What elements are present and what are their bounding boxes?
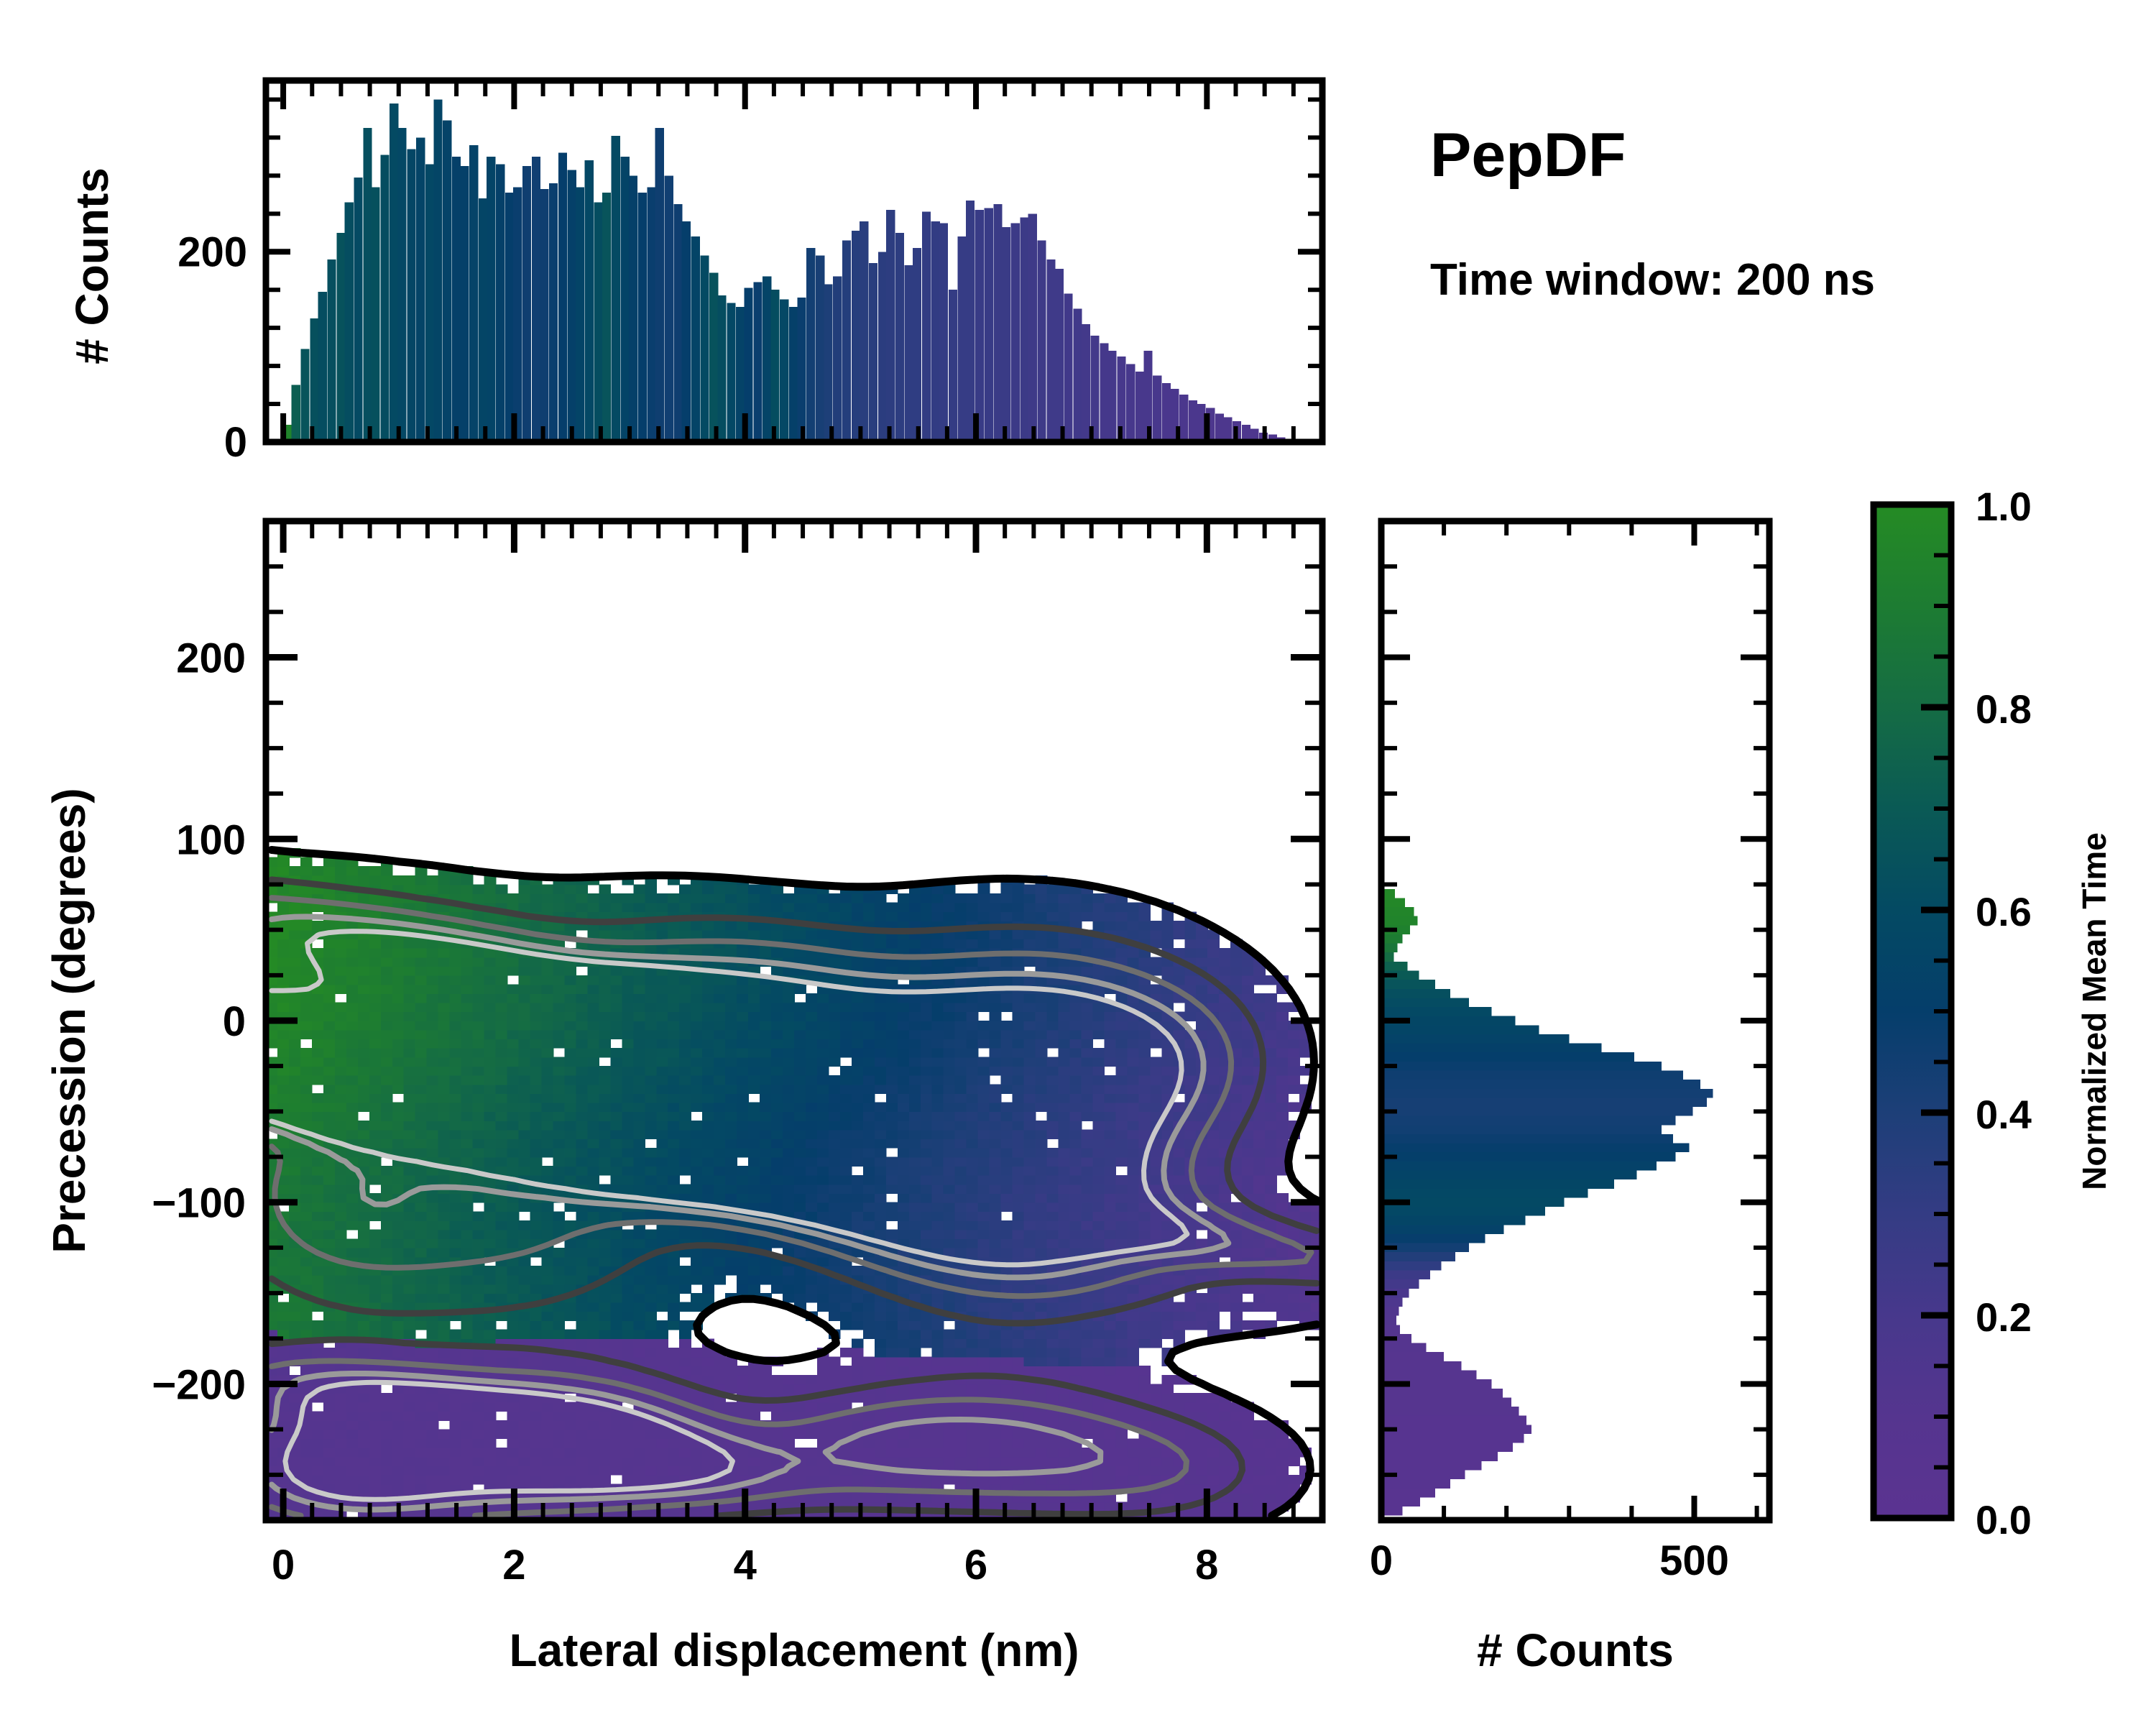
heatmap-cell xyxy=(748,1175,760,1184)
heatmap-cell xyxy=(829,1175,841,1184)
heatmap-cell xyxy=(691,1166,703,1175)
heatmap-cell xyxy=(921,1157,933,1167)
heatmap-cell xyxy=(944,1402,956,1412)
heatmap-cell xyxy=(461,1266,474,1275)
heatmap-cell xyxy=(392,1430,405,1439)
heatmap-cell xyxy=(461,1330,474,1339)
heatmap-cell xyxy=(633,1311,645,1320)
heatmap-cell xyxy=(484,1066,497,1075)
heatmap-cell xyxy=(1127,1030,1139,1039)
heatmap-cell xyxy=(553,1093,565,1103)
heatmap-cell xyxy=(863,1211,875,1220)
heatmap-cell xyxy=(806,1066,818,1075)
top-histogram-bar xyxy=(1055,269,1064,442)
heatmap-cell xyxy=(450,1284,462,1293)
heatmap-cell xyxy=(1276,1093,1289,1103)
heatmap-cell xyxy=(415,1230,428,1239)
heatmap-cell xyxy=(576,1138,588,1148)
heatmap-cell xyxy=(335,1030,347,1039)
heatmap-cell xyxy=(358,1103,370,1112)
heatmap-cell xyxy=(990,1302,1002,1312)
heatmap-cell xyxy=(622,1130,634,1139)
heatmap-cell xyxy=(1184,1238,1197,1248)
heatmap-cell xyxy=(622,1293,634,1302)
heatmap-cell xyxy=(507,1238,520,1248)
heatmap-cell xyxy=(668,1438,680,1448)
heatmap-cell xyxy=(599,1030,611,1039)
heatmap-cell xyxy=(461,1438,474,1448)
heatmap-cell xyxy=(1242,1284,1254,1293)
heatmap-cell xyxy=(541,1111,553,1121)
heatmap-cell xyxy=(1081,1030,1093,1039)
heatmap-cell xyxy=(978,1430,990,1439)
heatmap-cell xyxy=(817,1030,829,1039)
heatmap-cell xyxy=(817,1275,829,1284)
heatmap-cell xyxy=(932,1220,944,1230)
heatmap-cell xyxy=(898,1166,910,1175)
heatmap-cell xyxy=(633,1084,645,1093)
heatmap-cell xyxy=(530,1011,543,1021)
heatmap-cell xyxy=(335,1021,347,1030)
heatmap-cell xyxy=(898,1193,910,1202)
heatmap-cell xyxy=(1265,1075,1277,1085)
heatmap-cell xyxy=(438,1457,451,1466)
heatmap-cell xyxy=(760,1048,772,1057)
heatmap-cell xyxy=(1127,1338,1139,1348)
heatmap-cell xyxy=(806,1193,818,1202)
heatmap-cell xyxy=(541,1103,553,1112)
heatmap-cell xyxy=(369,1138,382,1148)
heatmap-cell xyxy=(1059,1084,1071,1093)
heatmap-cell xyxy=(702,1175,714,1184)
heatmap-cell xyxy=(656,1357,668,1366)
heatmap-cell xyxy=(323,1448,336,1457)
heatmap-cell xyxy=(990,1148,1002,1157)
heatmap-cell xyxy=(1230,1411,1243,1420)
heatmap-cell xyxy=(1242,1030,1254,1039)
heatmap-cell xyxy=(289,1211,301,1220)
heatmap-cell xyxy=(978,1338,990,1348)
heatmap-cell xyxy=(875,1157,887,1167)
heatmap-cell xyxy=(622,1438,634,1448)
heatmap-cell xyxy=(725,1048,737,1057)
heatmap-cell xyxy=(289,1103,301,1112)
heatmap-cell xyxy=(817,1011,829,1021)
heatmap-cell xyxy=(1219,1011,1231,1021)
heatmap-cell xyxy=(461,1075,474,1085)
heatmap-cell xyxy=(1069,1103,1082,1112)
heatmap-cell xyxy=(955,1430,967,1439)
heatmap-cell xyxy=(863,1193,875,1202)
heatmap-cell xyxy=(794,1375,806,1384)
heatmap-cell xyxy=(1047,1148,1059,1157)
heatmap-cell xyxy=(967,1193,979,1202)
heatmap-cell xyxy=(541,1075,553,1085)
heatmap-cell xyxy=(748,1021,760,1030)
heatmap-cell xyxy=(714,1103,726,1112)
heatmap-cell xyxy=(1104,1121,1116,1130)
heatmap-cell xyxy=(1184,1075,1197,1085)
heatmap-cell xyxy=(645,1338,657,1348)
heatmap-cell xyxy=(932,1093,944,1103)
heatmap-cell xyxy=(714,1157,726,1167)
heatmap-cell xyxy=(817,1148,829,1157)
heatmap-cell xyxy=(507,1420,520,1430)
heatmap-cell xyxy=(404,1220,416,1230)
heatmap-cell xyxy=(622,1111,634,1121)
heatmap-cell xyxy=(760,1121,772,1130)
heatmap-cell xyxy=(358,1121,370,1130)
heatmap-cell xyxy=(323,1438,336,1448)
heatmap-cell xyxy=(829,1257,841,1266)
heatmap-cell xyxy=(335,1175,347,1184)
heatmap-cell xyxy=(392,1330,405,1339)
heatmap-cell xyxy=(1150,1320,1162,1330)
heatmap-cell xyxy=(335,1220,347,1230)
heatmap-cell xyxy=(622,1093,634,1103)
heatmap-cell xyxy=(863,1448,875,1457)
heatmap-cell xyxy=(461,1402,474,1412)
heatmap-cell xyxy=(1230,1111,1243,1121)
heatmap-cell xyxy=(909,1266,921,1275)
heatmap-cell xyxy=(1150,1211,1162,1220)
heatmap-cell xyxy=(944,1457,956,1466)
heatmap-cell xyxy=(461,1275,474,1284)
heatmap-cell xyxy=(622,1121,634,1130)
heatmap-cell xyxy=(358,1057,370,1067)
heatmap-cell xyxy=(323,1238,336,1248)
heatmap-cell xyxy=(473,1475,485,1484)
heatmap-cell xyxy=(691,1366,703,1375)
heatmap-cell xyxy=(955,1193,967,1202)
heatmap-cell xyxy=(668,1457,680,1466)
heatmap-cell xyxy=(484,1048,497,1057)
heatmap-cell xyxy=(955,1157,967,1167)
heatmap-cell xyxy=(312,1320,324,1330)
heatmap-cell xyxy=(541,1220,553,1230)
heatmap-cell xyxy=(875,1193,887,1202)
heatmap-cell xyxy=(1253,1320,1266,1330)
heatmap-cell xyxy=(1047,1248,1059,1257)
heatmap-cell xyxy=(427,1238,439,1248)
heatmap-cell xyxy=(1138,1284,1151,1293)
heatmap-cell xyxy=(1184,1320,1197,1330)
heatmap-cell xyxy=(277,1311,290,1320)
heatmap-cell xyxy=(840,1166,852,1175)
heatmap-cell xyxy=(415,1030,428,1039)
heatmap-cell xyxy=(1276,1138,1289,1148)
heatmap-cell xyxy=(875,1330,887,1339)
heatmap-cell xyxy=(1115,1466,1128,1475)
heatmap-cell xyxy=(1196,1175,1208,1184)
heatmap-cell xyxy=(794,1048,806,1057)
heatmap-cell xyxy=(1276,1121,1289,1130)
heatmap-cell xyxy=(1081,1220,1093,1230)
heatmap-cell xyxy=(783,1138,795,1148)
top-histogram-bar xyxy=(318,292,327,442)
heatmap-cell xyxy=(875,1411,887,1420)
heatmap-cell xyxy=(886,1175,898,1184)
heatmap-cell xyxy=(496,1330,508,1339)
heatmap-cell xyxy=(1069,1075,1082,1085)
heatmap-cell xyxy=(806,1448,818,1457)
heatmap-cell xyxy=(541,1011,553,1021)
heatmap-cell xyxy=(461,1293,474,1302)
heatmap-cell xyxy=(484,1357,497,1366)
top-histogram-bar xyxy=(895,233,904,442)
heatmap-cell xyxy=(898,1320,910,1330)
heatmap-cell xyxy=(392,1066,405,1075)
heatmap-cell xyxy=(886,1357,898,1366)
heatmap-cell xyxy=(932,1148,944,1157)
heatmap-cell xyxy=(1036,1502,1048,1512)
heatmap-cell xyxy=(450,1393,462,1402)
heatmap-cell xyxy=(450,1148,462,1157)
heatmap-cell xyxy=(369,1420,382,1430)
heatmap-cell xyxy=(829,1311,841,1320)
heatmap-cell xyxy=(1047,1302,1059,1312)
heatmap-cell xyxy=(702,1184,714,1193)
heatmap-cell xyxy=(1104,1466,1116,1475)
heatmap-cell xyxy=(737,1184,749,1193)
heatmap-cell xyxy=(496,1011,508,1021)
heatmap-cell xyxy=(817,1057,829,1067)
heatmap-cell xyxy=(771,1084,783,1093)
heatmap-cell xyxy=(1047,1166,1059,1175)
heatmap-cell xyxy=(840,1375,852,1384)
heatmap-cell xyxy=(610,1130,622,1139)
heatmap-cell xyxy=(1024,1284,1036,1293)
heatmap-cell xyxy=(679,1448,691,1457)
top-histogram-bar xyxy=(327,259,336,442)
heatmap-cell xyxy=(817,1184,829,1193)
heatmap-cell xyxy=(335,1284,347,1293)
heatmap-cell xyxy=(381,1466,393,1475)
heatmap-cell xyxy=(381,1411,393,1420)
heatmap-cell xyxy=(840,1293,852,1302)
heatmap-cell xyxy=(714,1457,726,1466)
heatmap-cell xyxy=(633,1302,645,1312)
heatmap-cell xyxy=(1104,1021,1116,1030)
heatmap-cell xyxy=(748,1066,760,1075)
top-histogram-bar xyxy=(673,204,682,442)
heatmap-cell xyxy=(829,1475,841,1484)
heatmap-cell xyxy=(955,1338,967,1348)
heatmap-cell xyxy=(507,1284,520,1293)
heatmap-cell xyxy=(415,1138,428,1148)
heatmap-cell xyxy=(1196,1157,1208,1167)
heatmap-cell xyxy=(1138,1393,1151,1402)
heatmap-cell xyxy=(932,1021,944,1030)
heatmap-cell xyxy=(496,1057,508,1067)
heatmap-cell xyxy=(576,1157,588,1167)
heatmap-cell xyxy=(633,1338,645,1348)
heatmap-cell xyxy=(323,1311,336,1320)
heatmap-cell xyxy=(771,1275,783,1284)
heatmap-cell xyxy=(461,1457,474,1466)
heatmap-cell xyxy=(1092,1430,1105,1439)
heatmap-cell xyxy=(1127,1048,1139,1057)
heatmap-cell xyxy=(438,1348,451,1357)
heatmap-cell xyxy=(450,1411,462,1420)
heatmap-cell xyxy=(1092,1230,1105,1239)
heatmap-cell xyxy=(496,1293,508,1302)
heatmap-cell xyxy=(553,1457,565,1466)
heatmap-cell xyxy=(1047,1438,1059,1448)
heatmap-cell xyxy=(783,1057,795,1067)
top-histogram-bar xyxy=(691,236,700,442)
heatmap-cell xyxy=(806,1030,818,1039)
heatmap-cell xyxy=(806,1121,818,1130)
heatmap-cell xyxy=(967,1148,979,1157)
heatmap-cell xyxy=(875,1230,887,1239)
heatmap-cell xyxy=(679,1030,691,1039)
heatmap-cell xyxy=(1081,1011,1093,1021)
heatmap-cell xyxy=(392,1084,405,1093)
heatmap-cell xyxy=(541,1021,553,1030)
heatmap-cell xyxy=(323,1430,336,1439)
heatmap-cell xyxy=(633,1266,645,1275)
heatmap-cell xyxy=(645,1093,657,1103)
heatmap-cell xyxy=(1013,1166,1025,1175)
heatmap-cell xyxy=(932,1202,944,1212)
heatmap-cell xyxy=(737,1457,749,1466)
heatmap-cell xyxy=(817,1466,829,1475)
heatmap-cell xyxy=(484,1030,497,1039)
heatmap-cell xyxy=(645,1011,657,1021)
heatmap-cell xyxy=(978,1193,990,1202)
heatmap-cell xyxy=(817,1202,829,1212)
heatmap-cell xyxy=(1276,1021,1289,1030)
top-histogram-bar xyxy=(301,349,310,442)
heatmap-cell xyxy=(427,1202,439,1212)
heatmap-cell xyxy=(875,1357,887,1366)
heatmap-cell xyxy=(415,1039,428,1048)
heatmap-cell xyxy=(392,1475,405,1484)
heatmap-cell xyxy=(358,1284,370,1293)
heatmap-cell xyxy=(909,1384,921,1393)
heatmap-cell xyxy=(1001,1248,1013,1257)
heatmap-cell xyxy=(909,1448,921,1457)
heatmap-cell xyxy=(622,1348,634,1357)
heatmap-cell xyxy=(909,1175,921,1184)
heatmap-cell xyxy=(1081,1039,1093,1048)
heatmap-cell xyxy=(1059,1220,1071,1230)
heatmap-cell xyxy=(484,1039,497,1048)
heatmap-cell xyxy=(564,1048,576,1057)
heatmap-cell xyxy=(530,1438,543,1448)
heatmap-cell xyxy=(1059,1148,1071,1157)
heatmap-cell xyxy=(691,1121,703,1130)
heatmap-cell xyxy=(840,1202,852,1212)
heatmap-cell xyxy=(794,1275,806,1284)
heatmap-cell xyxy=(990,1202,1002,1212)
heatmap-cell xyxy=(955,1121,967,1130)
heatmap-cell xyxy=(990,1184,1002,1193)
top-histogram-bar xyxy=(1073,309,1082,442)
heatmap-cell xyxy=(599,1438,611,1448)
heatmap-cell xyxy=(1184,1011,1197,1021)
heatmap-cell xyxy=(519,1030,531,1039)
heatmap-cell xyxy=(381,1475,393,1484)
heatmap-cell xyxy=(346,1393,359,1402)
heatmap-cell xyxy=(944,1357,956,1366)
heatmap-cell xyxy=(1104,1103,1116,1112)
heatmap-cell xyxy=(1001,1039,1013,1048)
heatmap-cell xyxy=(507,1275,520,1284)
heatmap-cell xyxy=(633,1066,645,1075)
top-histogram-bar xyxy=(886,210,895,442)
heatmap-cell xyxy=(300,1093,313,1103)
heatmap-cell xyxy=(748,1430,760,1439)
heatmap-cell xyxy=(967,1130,979,1139)
heatmap-cell xyxy=(553,1148,565,1157)
heatmap-cell xyxy=(794,1011,806,1021)
top-histogram-bar xyxy=(568,170,576,442)
heatmap-cell xyxy=(783,1284,795,1293)
heatmap-cell xyxy=(840,1320,852,1330)
heatmap-cell xyxy=(369,1248,382,1257)
heatmap-cell xyxy=(702,1157,714,1167)
heatmap-cell xyxy=(886,1093,898,1103)
heatmap-cell xyxy=(691,1075,703,1085)
heatmap-cell xyxy=(1036,1330,1048,1339)
heatmap-cell xyxy=(587,1448,599,1457)
heatmap-cell xyxy=(909,1475,921,1484)
heatmap-cell xyxy=(633,1475,645,1484)
heatmap-cell xyxy=(1001,1148,1013,1157)
heatmap-cell xyxy=(898,1357,910,1366)
heatmap-cell xyxy=(1036,1021,1048,1030)
heatmap-cell xyxy=(1127,1466,1139,1475)
heatmap-cell xyxy=(1219,1466,1231,1475)
heatmap-cell xyxy=(1104,1030,1116,1039)
heatmap-cell xyxy=(1036,1384,1048,1393)
heatmap-cell xyxy=(404,1021,416,1030)
heatmap-cell xyxy=(737,1093,749,1103)
heatmap-cell xyxy=(484,1438,497,1448)
heatmap-cell xyxy=(656,1057,668,1067)
heatmap-cell xyxy=(1115,1057,1128,1067)
heatmap-cell xyxy=(1081,1338,1093,1348)
heatmap-cell xyxy=(852,1302,864,1312)
heatmap-cell xyxy=(909,1138,921,1148)
top-histogram-bar xyxy=(717,295,726,442)
heatmap-cell xyxy=(944,1093,956,1103)
heatmap-cell xyxy=(300,1166,313,1175)
heatmap-cell xyxy=(748,1402,760,1412)
heatmap-cell xyxy=(415,1220,428,1230)
heatmap-cell xyxy=(990,1039,1002,1048)
heatmap-cell xyxy=(1036,1248,1048,1257)
heatmap-cell xyxy=(875,1320,887,1330)
heatmap-cell xyxy=(553,1248,565,1257)
heatmap-cell xyxy=(1115,1284,1128,1293)
heatmap-cell xyxy=(1115,1338,1128,1348)
heatmap-cell xyxy=(932,1448,944,1457)
heatmap-cell xyxy=(1265,1093,1277,1103)
heatmap-cell xyxy=(978,1148,990,1157)
heatmap-cell xyxy=(323,1093,336,1103)
heatmap-cell xyxy=(944,1211,956,1220)
heatmap-cell xyxy=(587,1430,599,1439)
heatmap-cell xyxy=(679,1330,691,1339)
heatmap-cell xyxy=(1115,1238,1128,1248)
heatmap-cell xyxy=(714,1138,726,1148)
heatmap-cell xyxy=(312,1121,324,1130)
heatmap-cell xyxy=(289,1057,301,1067)
heatmap-cell xyxy=(335,1402,347,1412)
